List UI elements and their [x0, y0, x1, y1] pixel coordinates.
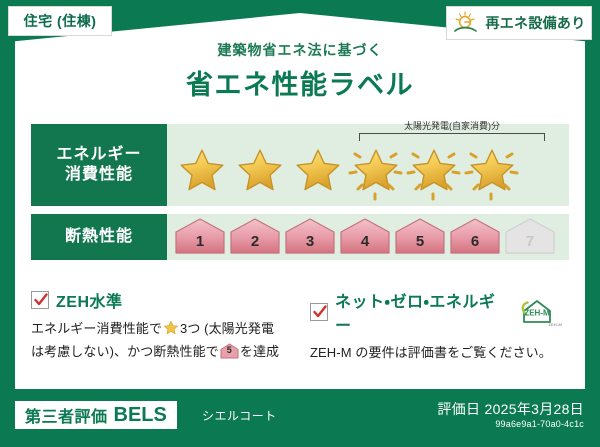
star-icon [409, 147, 459, 195]
insulation-performance-head: 断熱性能 [31, 214, 167, 260]
evaluation-date-value: 2025年3月28日 [484, 401, 584, 417]
sun-icon [452, 10, 480, 36]
inline-house-number: 5 [220, 346, 239, 355]
zeh-body-part3: を達成 [240, 344, 279, 359]
solar-annotation-bracket [359, 133, 545, 141]
performance-rows: エネルギー 消費性能 太陽光発電(自家消費)分 断熱性能 1234567 [31, 124, 569, 268]
bels-badge: 第三者評価 BELS [15, 401, 177, 429]
energy-star-solar [347, 141, 404, 201]
energy-star [231, 141, 288, 201]
svg-text:ZEH-M: ZEH-M [524, 309, 550, 318]
energy-performance-label: 住宅 (住棟) 再エネ設備あり 建築物省エネ法に基づく 省エネ性能ラベル [0, 0, 600, 447]
insulation-performance-body: 1234567 [167, 214, 569, 260]
net-zero-energy-head: ネット・ゼロ・エネルギー ZEH-M ZEH-M [310, 288, 561, 336]
energy-star [173, 141, 230, 201]
label-title-block: 建築物省エネ法に基づく 省エネ性能ラベル [0, 40, 600, 102]
zeh-standard-head: ZEH水準 [31, 288, 292, 312]
star-icon [351, 147, 401, 195]
third-party-label: 第三者評価 [25, 403, 108, 427]
building-type-chip: 住宅 (住棟) [8, 6, 112, 36]
label-footer: 第三者評価 BELS シエルコート 評価日 2025年3月28日 99a6e9a… [0, 389, 600, 447]
title-subtitle: 建築物省エネ法に基づく [0, 40, 600, 60]
energy-head-line2: 消費性能 [65, 165, 133, 185]
solar-annotation: 太陽光発電(自家消費)分 [359, 122, 545, 141]
star-icon [467, 147, 517, 195]
insulation-level-3: 3 [284, 217, 336, 257]
insulation-level-7: 7 [504, 217, 556, 257]
insulation-level-number: 2 [229, 233, 281, 250]
energy-star-solar [405, 141, 462, 201]
builder-name: シエルコート [202, 407, 277, 424]
insulation-level-number: 7 [504, 233, 556, 250]
net-zero-energy-body: ZEH-M の要件は評価書をご覧ください。 [310, 343, 561, 363]
energy-head-line1: エネルギー [56, 145, 141, 165]
inline-house-icon: 5 [220, 343, 239, 359]
insulation-level-number: 1 [174, 233, 226, 250]
net-zero-energy-title: ネット・ゼロ・エネルギー [335, 288, 506, 336]
insulation-level-number: 5 [394, 233, 446, 250]
solar-annotation-text: 太陽光発電(自家消費)分 [359, 122, 545, 131]
zeh-body-star-count: 3つ (太陽光発電 [180, 321, 274, 336]
insulation-level-number: 4 [339, 233, 391, 250]
star-icon [293, 147, 343, 195]
insulation-level-5: 5 [394, 217, 446, 257]
energy-star [289, 141, 346, 201]
renewable-equipment-label: 再エネ設備あり [485, 13, 585, 33]
building-type-label: 住宅 (住棟) [24, 11, 97, 31]
zeh-m-logo-subtext: ZEH-M [548, 322, 562, 327]
bels-label: BELS [114, 404, 167, 427]
zeh-standard-body: エネルギー消費性能で3つ (太陽光発電 は考慮しない)、かつ断熱性能で5を達成 [31, 319, 292, 362]
energy-performance-body: 太陽光発電(自家消費)分 [167, 124, 569, 206]
insulation-level-scale: 1234567 [167, 217, 556, 257]
energy-performance-head: エネルギー 消費性能 [31, 124, 167, 206]
star-icon [177, 147, 227, 195]
inline-star-icon [163, 320, 179, 342]
net-zero-energy-block: ネット・ゼロ・エネルギー ZEH-M ZEH-M ZEH-M の要件は評価書をご… [300, 288, 569, 363]
evaluation-date-label: 評価日 [437, 401, 480, 417]
energy-star-solar [463, 141, 520, 201]
energy-performance-row: エネルギー 消費性能 太陽光発電(自家消費)分 [31, 124, 569, 206]
zeh-body-part1: エネルギー消費性能で [31, 321, 162, 336]
star-icon [235, 147, 285, 195]
zeh-m-logo-icon: ZEH-M ZEH-M [515, 297, 561, 327]
zeh-standard-title: ZEH水準 [56, 288, 123, 312]
renewable-equipment-chip: 再エネ設備あり [446, 6, 592, 40]
insulation-level-1: 1 [174, 217, 226, 257]
zeh-standard-checkbox [31, 291, 49, 309]
zeh-body-part2: は考慮しない)、かつ断熱性能で [31, 344, 219, 359]
insulation-level-number: 3 [284, 233, 336, 250]
evaluation-id: 99a6e9a1-70a0-4c1c [495, 419, 584, 429]
check-statements: ZEH水準 エネルギー消費性能で3つ (太陽光発電 は考慮しない)、かつ断熱性能… [31, 288, 569, 363]
net-zero-energy-checkbox [310, 303, 328, 321]
insulation-head-label: 断熱性能 [65, 227, 133, 247]
insulation-level-6: 6 [449, 217, 501, 257]
insulation-level-2: 2 [229, 217, 281, 257]
zeh-standard-block: ZEH水準 エネルギー消費性能で3つ (太陽光発電 は考慮しない)、かつ断熱性能… [31, 288, 300, 363]
title-main: 省エネ性能ラベル [0, 63, 600, 102]
insulation-performance-row: 断熱性能 1234567 [31, 214, 569, 260]
insulation-level-4: 4 [339, 217, 391, 257]
insulation-level-number: 6 [449, 233, 501, 250]
evaluation-date: 評価日 2025年3月28日 [437, 399, 584, 419]
